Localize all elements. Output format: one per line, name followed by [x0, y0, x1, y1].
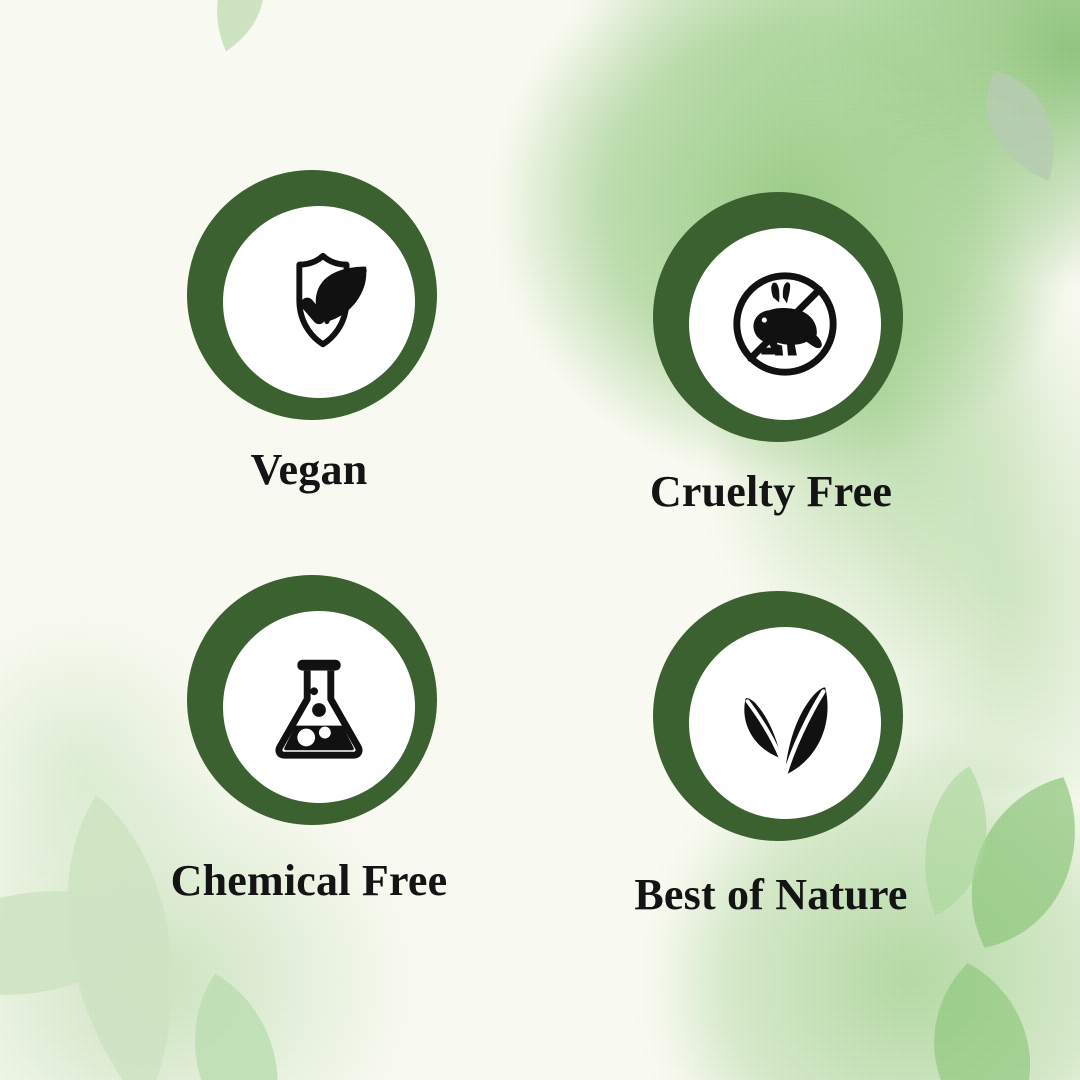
- badge-disc: [223, 206, 415, 398]
- shield-check-leaf-icon: [260, 243, 378, 361]
- badge-ring: [653, 192, 903, 442]
- badge-panel: Vegan: [0, 0, 1080, 1080]
- badge-ring: [653, 591, 903, 841]
- no-rabbit-icon: [726, 265, 844, 383]
- badge-disc: [689, 627, 881, 819]
- erlenmeyer-flask-icon: [260, 648, 378, 766]
- badge-label: Vegan: [251, 444, 368, 495]
- two-leaves-icon: [726, 664, 844, 782]
- badge-cruelty-free[interactable]: Cruelty Free: [540, 170, 1002, 565]
- badge-grid: Vegan: [0, 0, 1080, 1080]
- badge-vegan[interactable]: Vegan: [78, 170, 540, 565]
- badge-label: Cruelty Free: [650, 466, 892, 517]
- badge-best-of-nature[interactable]: Best of Nature: [540, 565, 1002, 960]
- badge-ring: [187, 575, 437, 825]
- badge-disc: [223, 611, 415, 803]
- badge-disc: [689, 228, 881, 420]
- badge-label: Chemical Free: [171, 855, 448, 906]
- badge-label: Best of Nature: [634, 869, 907, 920]
- badge-chemical-free[interactable]: Chemical Free: [78, 565, 540, 960]
- badge-ring: [187, 170, 437, 420]
